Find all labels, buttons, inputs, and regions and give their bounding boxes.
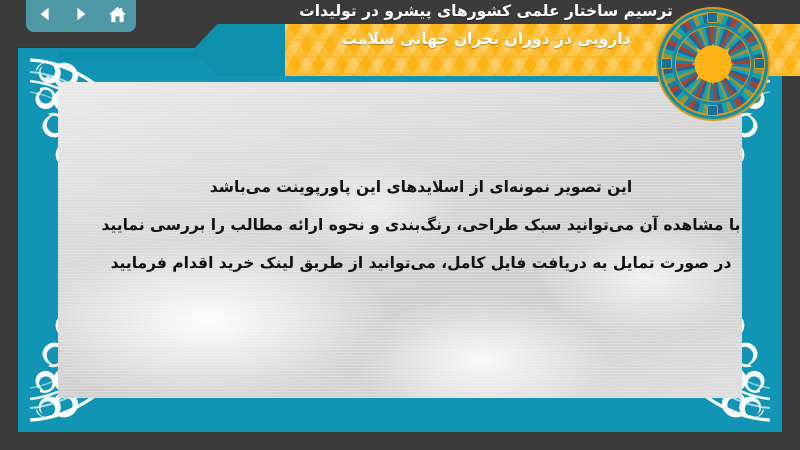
footer-strip (0, 432, 800, 450)
teal-accent-bar (58, 52, 218, 61)
navigation-toolbar (26, 0, 136, 32)
previous-slide-button[interactable] (33, 3, 57, 25)
slide-stage: این تصویر نمونه‌ای از اسلایدهای این پاور… (0, 0, 800, 450)
medallion-dot-bottom (707, 105, 718, 116)
medallion-dot-top (707, 12, 718, 23)
persian-medallion-ornament (663, 14, 763, 114)
next-slide-button[interactable] (69, 3, 93, 25)
medallion-dot-right (754, 58, 765, 69)
slide-frame: این تصویر نمونه‌ای از اسلایدهای این پاور… (18, 48, 782, 432)
home-button[interactable] (105, 3, 129, 25)
slide-content-area (58, 82, 742, 398)
medallion-dot-left (661, 58, 672, 69)
